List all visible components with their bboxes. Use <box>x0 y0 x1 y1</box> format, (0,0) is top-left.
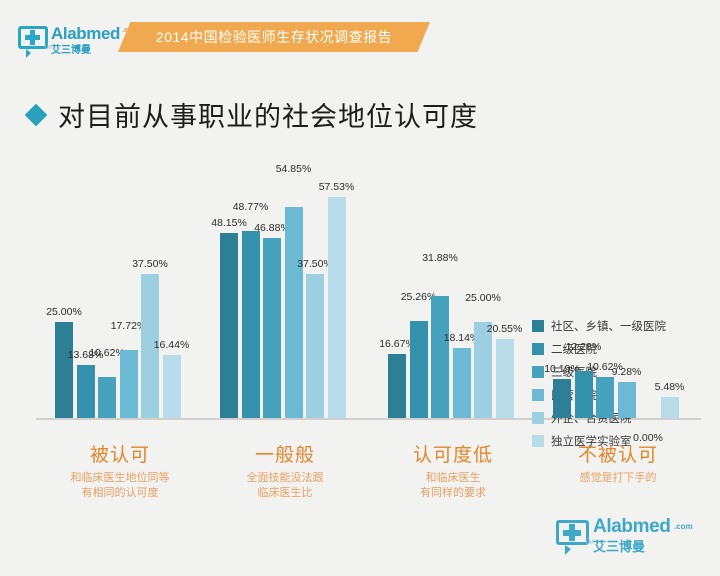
bar[interactable] <box>553 379 571 418</box>
category-subtitle-line: 和临床医生 <box>363 471 543 486</box>
bar[interactable] <box>285 207 303 418</box>
bar-value-label: 54.85% <box>270 163 318 175</box>
bar-chart: 社区、乡镇、一级医院二级医院三级医院民营医院外企、合资医院独立医学实验室 25.… <box>0 150 720 450</box>
bar[interactable] <box>474 322 492 418</box>
bar[interactable] <box>453 348 471 418</box>
bar[interactable] <box>242 231 260 418</box>
category-title: 被认可 <box>30 440 210 467</box>
bar-value-label: 25.00% <box>40 306 88 318</box>
category-label-group: 认可度低和临床医生有同样的要求 <box>363 440 543 501</box>
header-banner: 2014中国检验医师生存状况调查报告 <box>118 22 430 52</box>
bar-value-label: 9.28% <box>603 366 651 378</box>
footer-logo: Alabmed .com TM 艾三博曼 <box>556 516 706 556</box>
brand-logo-chinese: 艾三博曼 <box>51 41 91 56</box>
chart-category-labels: 被认可和临床医生地位同等有相同的认可度一般般全面技能没法跟临床医生比认可度低和临… <box>0 440 720 515</box>
bar-value-label: 31.88% <box>416 252 464 264</box>
bar[interactable] <box>263 238 281 418</box>
bar[interactable] <box>618 382 636 418</box>
bar-value-label: 20.55% <box>481 323 529 335</box>
bar[interactable] <box>306 274 324 418</box>
footer-plus-icon-horizontal <box>563 530 581 536</box>
bar[interactable] <box>496 339 514 418</box>
page-title-row: 对目前从事职业的社会地位认可度 <box>28 95 478 134</box>
page-header: Alabmed .com TM 艾三博曼 2014中国检验医师生存状况调查报告 <box>0 0 720 62</box>
diamond-bullet-icon <box>25 103 48 126</box>
category-subtitle-line: 有相同的认可度 <box>30 486 210 501</box>
bar[interactable] <box>388 354 406 418</box>
category-subtitle-line: 有同样的要求 <box>363 486 543 501</box>
footer-logo-wordmark: Alabmed <box>593 516 670 538</box>
category-title: 认可度低 <box>363 440 543 467</box>
bar[interactable] <box>98 377 116 418</box>
category-label-group: 被认可和临床医生地位同等有相同的认可度 <box>30 440 210 501</box>
bar-value-label: 57.53% <box>313 181 361 193</box>
legend-swatch <box>532 343 544 355</box>
bar[interactable] <box>77 365 95 418</box>
plus-icon-horizontal <box>25 35 40 40</box>
bar-value-label: 48.15% <box>205 217 253 229</box>
legend-swatch <box>532 320 544 332</box>
bar[interactable] <box>575 371 593 418</box>
page-title: 对目前从事职业的社会地位认可度 <box>58 95 478 134</box>
bar-value-label: 12.28% <box>560 341 608 353</box>
bar-value-label: 25.00% <box>459 292 507 304</box>
bar[interactable] <box>120 350 138 418</box>
category-title: 一般般 <box>195 440 375 467</box>
bar[interactable] <box>55 322 73 418</box>
brand-logo: Alabmed .com TM 艾三博曼 <box>18 24 136 54</box>
bar-value-label: 16.44% <box>148 339 196 351</box>
bar[interactable] <box>596 377 614 418</box>
legend-item[interactable]: 社区、乡镇、一级医院 <box>532 318 712 334</box>
category-title: 不被认可 <box>528 440 708 467</box>
bar[interactable] <box>163 355 181 418</box>
legend-swatch <box>532 389 544 401</box>
bar[interactable] <box>431 296 449 418</box>
legend-label: 社区、乡镇、一级医院 <box>551 318 666 334</box>
category-label-group: 一般般全面技能没法跟临床医生比 <box>195 440 375 501</box>
bar-value-label: 37.50% <box>126 258 174 270</box>
footer-logo-dotcom: .com <box>674 522 693 531</box>
category-subtitle-line: 感觉是打下手的 <box>528 471 708 486</box>
bar-value-label: 5.48% <box>646 381 694 393</box>
bar[interactable] <box>220 233 238 418</box>
legend-swatch <box>532 412 544 424</box>
category-label-group: 不被认可感觉是打下手的 <box>528 440 708 486</box>
bar[interactable] <box>328 197 346 418</box>
bar-value-label: 48.77% <box>227 201 275 213</box>
category-subtitle-line: 和临床医生地位同等 <box>30 471 210 486</box>
category-subtitle-line: 临床医生比 <box>195 486 375 501</box>
bar[interactable] <box>661 397 679 418</box>
header-banner-text: 2014中国检验医师生存状况调查报告 <box>156 27 392 47</box>
category-subtitle-line: 全面技能没法跟 <box>195 471 375 486</box>
footer-logo-chinese: 艾三博曼 <box>593 536 645 555</box>
bar[interactable] <box>410 321 428 418</box>
